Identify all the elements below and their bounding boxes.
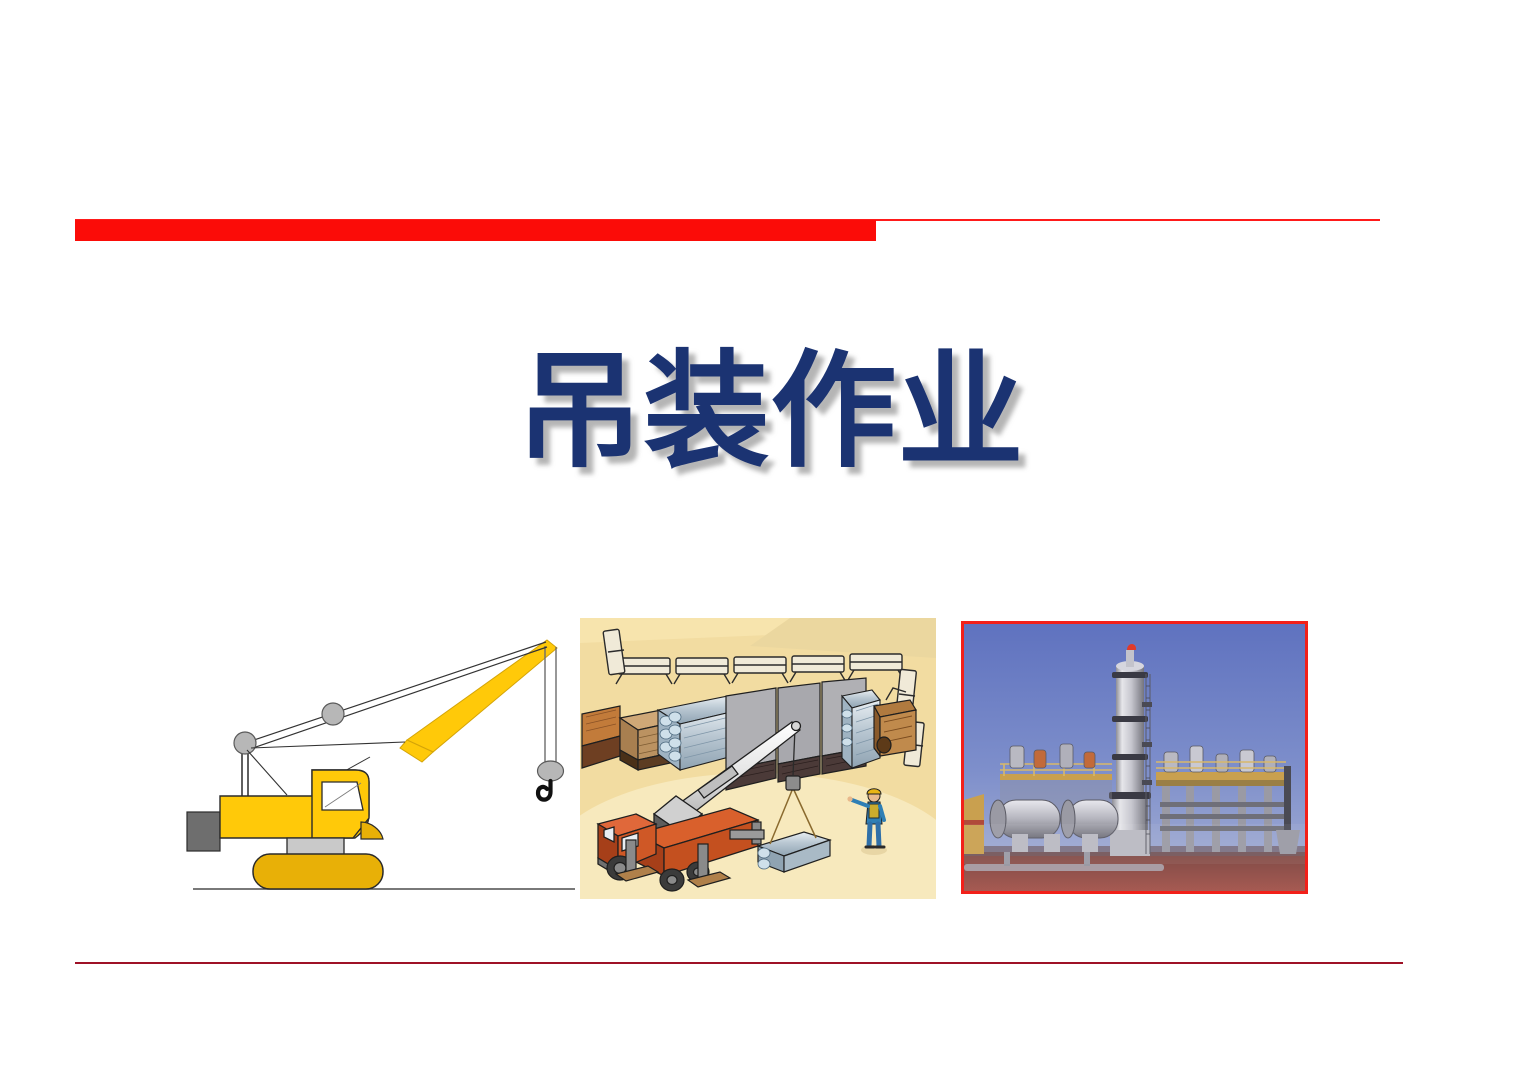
header-red-bar [75, 220, 876, 241]
truck-crane-yard-illustration [580, 618, 936, 899]
footer-rule [75, 962, 1403, 964]
page-title: 吊装作业 [0, 338, 1531, 487]
refinery-photo [961, 621, 1308, 894]
slide-canvas: 吊装作业 [0, 0, 1531, 1071]
crawler-crane-illustration [175, 610, 585, 905]
page-title-text: 吊装作业 [517, 338, 1025, 487]
